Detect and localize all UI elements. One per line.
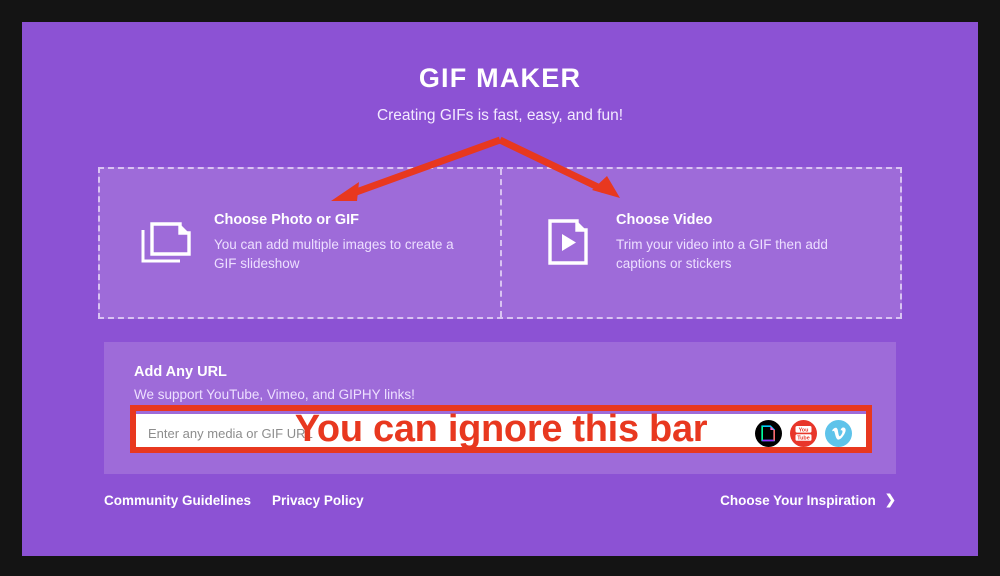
choose-video-text: Choose Video Trim your video into a GIF … [616,213,900,273]
choose-your-inspiration-link[interactable]: Choose Your Inspiration ❯ [720,492,896,508]
chevron-right-icon: ❯ [885,492,896,508]
choose-video-card[interactable]: Choose Video Trim your video into a GIF … [500,169,900,317]
page-title: GIF MAKER [22,22,978,94]
url-input[interactable] [134,414,755,452]
vimeo-icon[interactable] [825,420,852,447]
header: GIF MAKER Creating GIFs is fast, easy, a… [22,22,978,125]
choose-photo-or-gif-title: Choose Photo or GIF [214,213,500,229]
choice-cards-container: Choose Photo or GIF You can add multiple… [98,167,902,319]
add-url-panel: Add Any URL We support YouTube, Vimeo, a… [104,342,896,474]
add-url-title: Add Any URL [134,364,866,380]
choose-your-inspiration-label: Choose Your Inspiration [720,493,876,508]
page-subtitle: Creating GIFs is fast, easy, and fun! [22,94,978,125]
community-guidelines-link[interactable]: Community Guidelines [104,493,251,508]
choose-photo-or-gif-description: You can add multiple images to create a … [214,235,459,273]
choose-photo-or-gif-text: Choose Photo or GIF You can add multiple… [214,213,500,273]
screenshot-frame: GIF MAKER Creating GIFs is fast, easy, a… [0,0,1000,576]
privacy-policy-link[interactable]: Privacy Policy [272,493,364,508]
svg-text:Tube: Tube [797,435,809,441]
giphy-icon[interactable] [755,420,782,447]
footer: Community Guidelines Privacy Policy Choo… [104,492,896,508]
url-input-row: You Tube [134,414,866,452]
choose-photo-or-gif-card[interactable]: Choose Photo or GIF You can add multiple… [100,169,500,317]
supported-brands: You Tube [755,420,866,447]
gif-maker-viewport: GIF MAKER Creating GIFs is fast, easy, a… [22,22,978,556]
stacked-photos-icon [138,220,198,266]
choose-video-description: Trim your video into a GIF then add capt… [616,235,861,273]
youtube-icon[interactable]: You Tube [790,420,817,447]
footer-links: Community Guidelines Privacy Policy [104,493,364,508]
svg-text:You: You [799,427,809,433]
add-url-subtitle: We support YouTube, Vimeo, and GIPHY lin… [134,387,866,402]
video-file-play-icon [540,218,600,268]
choose-video-title: Choose Video [616,213,900,229]
